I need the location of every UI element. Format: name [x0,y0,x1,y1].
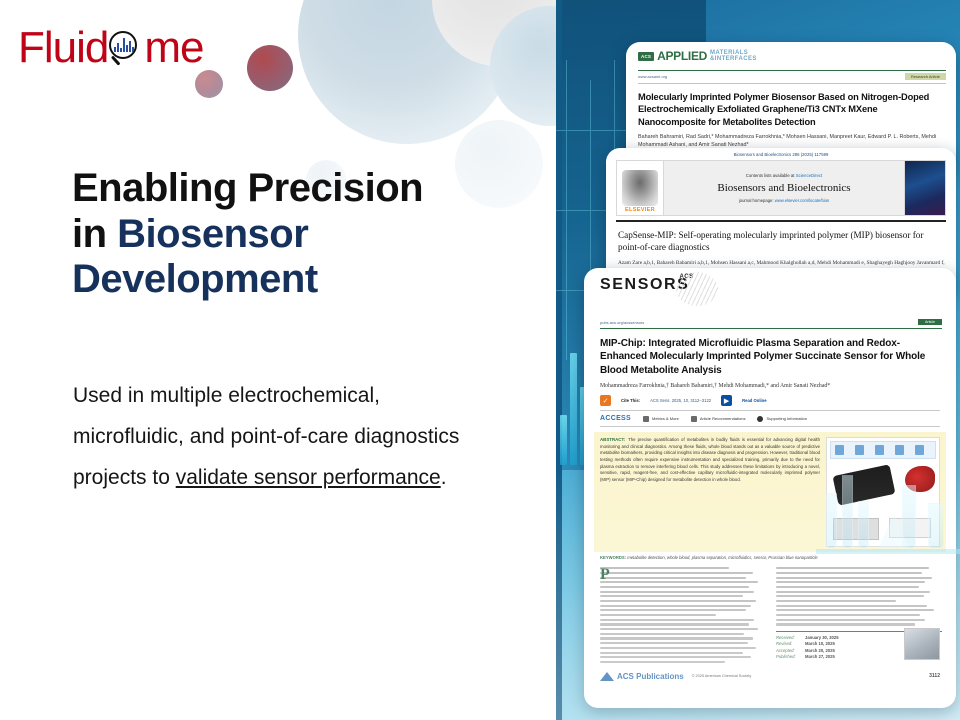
paper-title: CapSense-MIP: Self-operating molecularly… [606,222,956,254]
cite-this-label[interactable]: Cite This: [621,398,640,403]
article-recommendations-item[interactable]: Article Recommendations [691,416,746,422]
article-type-badge: Article [918,319,942,325]
acs-logo-chip: ACS [638,52,654,61]
masthead-materials-interfaces: MATERIALS &INTERFACES [710,50,757,63]
paper-authors: Bahareh Bahramiri, Rad Sadri,* Mohammadr… [626,128,956,149]
masthead-interfaces: &INTERFACES [710,56,757,62]
acs-sensors-logo: SENSORS ACS [584,268,956,315]
body-part-2: . [441,466,447,489]
running-head: Biosensors and Bioelectronics 286 (2025)… [606,148,956,160]
abstract-label: ABSTRACT: [600,437,625,442]
homepage-line: journal homepage: www.elsevier.com/locat… [739,198,829,203]
right-image-panel: ACS APPLIED MATERIALS &INTERFACES www.ac… [556,0,960,720]
panel-light-sheen [556,460,960,720]
decorative-circle-red-small [195,70,223,98]
read-online-icon[interactable]: ▶ [721,395,732,406]
contents-line: Contents lists available at ScienceDirec… [746,173,822,178]
access-label[interactable]: ACCESS [600,415,631,422]
elsevier-logo: ELSEVIER [617,161,664,215]
left-content-panel: Fluid me Enabling Precision in Biosensor [0,0,556,720]
homepage-label: journal homepage: [739,198,775,203]
paper-title: MIP-Chip: Integrated Microfluidic Plasma… [584,329,956,377]
recommendations-icon [691,416,697,422]
decorative-circle-gray [432,0,556,66]
elsevier-tree-icon [622,170,658,206]
masthead-applied: APPLIED [657,49,707,63]
headline-line-1: Enabling Precision [72,166,423,210]
slide: Fluid me Enabling Precision in Biosensor [0,0,960,720]
headline-line-2-accent: Biosensor [117,212,308,256]
read-online-label[interactable]: Read Online [742,398,766,403]
headline-line-3-accent: Development [72,257,318,301]
decorative-circle-blue-small [490,6,556,126]
metrics-more-label: Metrics & More [652,416,679,421]
contents-label: Contents lists available at [746,173,796,178]
sensors-swoosh-icon [676,272,718,306]
supporting-information-item[interactable]: Supporting Information [757,416,806,422]
decorative-circle-blue-large [298,0,516,144]
body-underlined-phrase: validate sensor performance [176,466,441,489]
decorative-circle-red-large [247,45,293,91]
supporting-info-icon [757,416,763,422]
paper-title: Molecularly Imprinted Polymer Biosensor … [626,84,956,128]
journal-cover-thumbnail [904,161,945,215]
page-title: Enabling Precision in Biosensor Developm… [72,166,502,303]
masthead-materials: MATERIALS [710,50,748,56]
metrics-more-item[interactable]: Metrics & More [643,416,679,422]
cite-this-value[interactable]: ACS Sens. 2025, 10, 3112−3122 [650,398,711,403]
body-paragraph: Used in multiple electrochemical, microf… [73,376,493,499]
homepage-link[interactable]: www.elsevier.com/locate/bios [775,198,829,203]
journal-url[interactable]: pubs.acs.org/acssensors [600,320,644,325]
journal-header-box: ELSEVIER Contents lists available at Sci… [616,160,946,216]
logo-text-right: me [144,26,203,70]
fluidome-logo: Fluid me [18,22,204,74]
journal-url[interactable]: www.acsami.org [638,74,667,79]
journal-masthead: ACS APPLIED MATERIALS &INTERFACES [626,42,956,66]
elsevier-wordmark: ELSEVIER [625,206,655,215]
sciencedirect-link[interactable]: ScienceDirect [796,173,823,178]
magnifier-chromatogram-icon [109,31,143,65]
journal-name: Biosensors and Bioelectronics [717,182,850,194]
article-type-badge: Research Article [905,73,946,80]
cite-this-icon[interactable]: ✓ [600,395,611,406]
logo-text-left: Fluid [18,26,108,70]
supporting-information-label: Supporting Information [766,416,806,421]
headline-line-2-plain: in [72,212,117,256]
article-recommendations-label: Article Recommendations [700,416,746,421]
metrics-icon [643,416,649,422]
